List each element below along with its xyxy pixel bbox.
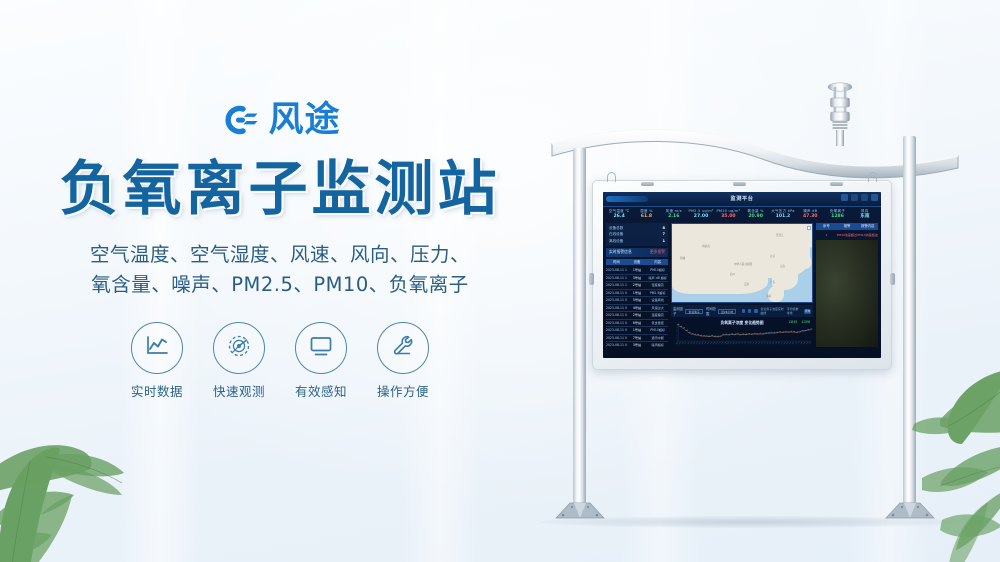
ground-shadow [540,516,960,528]
metric-value: 61.8 [633,214,659,221]
display-housing: 监测平台 空气温度 ℃ 26.4 湿度 % 61.8 风 [592,180,892,370]
mount-bolt [733,182,746,186]
metric-card: 大气压力 kPa 101.2 [770,209,796,221]
metric-value: 2.16 [661,214,687,221]
feature-label: 操作方便 [375,381,432,400]
stat-row: 离线设备 1 [609,238,665,244]
metric-card: 风速 m/s 2.16 [661,209,687,221]
column-header: 报警 [837,223,858,230]
mount-bolt [641,182,654,186]
support-post-right [903,136,916,503]
feature-easy-operation[interactable]: 操作方便 [375,322,432,400]
table-cell: 2023-08-11 09:40 [606,297,627,303]
table-row[interactable]: 2023-08-11 09:052号站温度偏高 [606,312,668,319]
metric-card: PM10 ug/m³ 35.00 [715,209,741,221]
support-post-left [573,148,586,503]
alarm-type: PM10浓度超过阈值 [837,232,858,238]
table-cell: 2023-08-11 08:48 [606,320,627,326]
table-row[interactable]: 2023-08-11 10:421号站PM10超标 [606,267,668,274]
dashboard-body: 设备总数 8 在线设备 7 离线设备 1 实时报警信息 [603,221,881,349]
alarm-table-header: 实时报警信息 更多报警 [606,248,668,257]
metric-card: 空气温度 ℃ 26.4 [606,209,632,221]
svg-text:23:30: 23:30 [808,342,812,345]
table-cell: 5号站 [627,297,648,303]
wrench-icon [390,333,416,364]
table-cell: PM2.5超标 [647,290,668,296]
trend-chart[interactable]: 负氧离子浓度 变化趋势图 1845 1286 01234567800:0000:… [671,319,813,347]
map-label: 四川 [730,272,735,276]
table-row[interactable]: 2023-08-11 10:313号站噪声 dB 超标 [606,275,668,282]
hero-panel: 风途 负氧离子监测站 空气温度、空气湿度、风速、风向、压力、 氧含量、噪声、PM… [0,96,560,400]
chart-readouts: 1845 1286 [789,320,810,324]
metric-value: 101.2 [770,214,796,221]
metric-value: 20.90 [742,214,768,221]
device-stats: 设备总数 8 在线设备 7 离线设备 1 [606,223,668,245]
map-label: 广东 [770,280,775,284]
map-label: 山东 [780,264,785,268]
table-cell: 温度偏高 [647,312,668,318]
query-button[interactable]: 查询 [804,309,811,314]
header-icons [841,194,878,201]
metric-value: 47.30 [797,214,823,221]
table-row[interactable]: 2023-08-11 08:486号站氧含量低 [606,320,668,327]
dashboard-title: 监测平台 [603,195,881,202]
map-label: 北京 [770,254,775,258]
table-row[interactable]: 2023-08-11 07:563号站噪声超标 [606,342,668,347]
monitoring-station-kiosk: 监测平台 空气温度 ℃ 26.4 湿度 % 61.8 风 [520,60,980,530]
feature-label: 实时数据 [129,381,186,400]
select-label: 监测因子 [673,306,683,316]
select-value[interactable]: 负氧离子 [685,309,703,315]
metric-card: 氧含量 % 20.90 [742,209,768,221]
table-cell: 2号站 [627,312,648,318]
legend-label-1: 负氧离子浓度实时曲线 [761,307,784,315]
metric-value: 1286 [824,214,850,221]
table-cell: 4号站 [627,305,648,311]
column-header: 序号 [816,223,837,230]
feature-icon-circle [295,322,347,374]
feature-list: 实时数据 快速观测 [0,322,560,400]
table-cell: 噪声 dB 超标 [647,275,668,281]
table-cell: 2023-08-11 08:31 [606,327,627,333]
export-icon[interactable] [748,309,751,313]
metric-value: 26.4 [606,214,632,221]
subtitle-line-2: 氧含量、噪声、PM2.5、PM10、负氧离子 [0,270,560,300]
metric-card: 湿度 % 61.8 [633,209,659,221]
svg-text:7: 7 [677,327,678,329]
factor-select[interactable]: 监测因子 负氧离子 [673,306,703,316]
svg-text:3: 3 [677,335,678,337]
max-value: 1845 [789,320,798,324]
column-header: 内容 [647,259,668,266]
table-row[interactable]: 2023-08-11 09:224号站风速过大 [606,305,668,312]
chart-controls: 监测因子 负氧离子 时间范围 近24小时 负氧离子浓度实时曲线 平均值参考线 [671,305,813,317]
mount-bolt [830,182,843,186]
select-label: 时间范围 [706,306,716,316]
table-cell: 2023-08-11 09:22 [606,305,627,311]
table-cell: 风速过大 [647,305,668,311]
svg-text:2: 2 [677,337,678,339]
feature-icon-circle [213,322,265,374]
china-map[interactable]: 内蒙古 黑龙江 新疆 北京 山东 四川 中华人民共和国 广东 云南 海南 [671,223,813,303]
camera-feed[interactable] [816,240,878,347]
hanger-ring-right [868,172,877,182]
more-alarms-link[interactable]: 更多报警 [650,249,665,255]
left-column: 设备总数 8 在线设备 7 离线设备 1 实时报警信息 [606,223,668,347]
metric-card: PM2.5 ug/m³ 27.00 [688,209,714,221]
table-cell: 2023-08-11 10:42 [606,267,627,273]
table-cell: 噪声超标 [647,342,668,347]
table-cell: 6号站 [627,320,648,326]
table-cell: 2023-08-11 10:31 [606,275,627,281]
temp-icon[interactable] [861,194,868,201]
alarm-content: PM10浓度超过阈值需及时处理 [857,232,878,238]
alarm-table-body[interactable]: 2023-08-11 10:421号站PM10超标2023-08-11 10:3… [606,267,668,347]
table-cell: 通讯中断 [647,335,668,341]
grid-toggle-icon[interactable] [742,309,745,313]
table-row[interactable]: 2023-08-11 08:147号站通讯中断 [606,335,668,342]
svg-text:4: 4 [677,333,678,335]
center-column: 内蒙古 黑龙江 新疆 北京 山东 四川 中华人民共和国 广东 云南 海南 [671,223,813,347]
brand-logo: 风途 [0,96,560,144]
wind-icon[interactable] [851,194,858,201]
table-row[interactable]: 2023-08-11 10:182号站湿度偏高 [606,282,668,289]
stat-label: 离线设备 [609,238,623,244]
table-cell: 2023-08-11 09:57 [606,290,627,296]
weather-icon[interactable] [841,194,848,201]
hanger-ring-left [607,172,616,182]
alarm-table-title: 实时报警信息 [609,249,632,255]
table-cell: 2023-08-11 07:56 [606,342,627,347]
feature-icon-circle [131,322,183,374]
table-cell: 3号站 [627,275,648,281]
brand-name: 风途 [268,103,340,138]
current-value: 1286 [801,320,810,324]
metric-row: 空气温度 ℃ 26.4 湿度 % 61.8 风速 m/s 2.16 PM2.5 … [603,207,881,221]
table-row[interactable]: 2023-08-11 09:405号站设备离线 [606,297,668,304]
select-value[interactable]: 近24小时 [718,309,736,315]
svg-text:5: 5 [677,331,678,333]
column-header: 设备 [627,259,648,266]
metric-value: 35.00 [715,214,741,221]
table-cell: 2023-08-11 09:05 [606,312,627,318]
map-label: 内蒙古 [702,244,710,248]
page-title: 负氧离子监测站 [0,158,560,220]
table-cell: PM10超标 [647,327,668,333]
alarm-table-columns: 时间 设备 内容 [606,259,668,266]
right-column: 序号 报警 报警内容 1 PM10浓度超过阈值 PM10浓度超过阈值需及时处理 [816,223,878,347]
alarm-panel-header: 序号 报警 报警内容 [816,223,878,230]
table-row[interactable]: 2023-08-11 08:311号站PM10超标 [606,327,668,334]
map-label: 黑龙江 [776,233,784,237]
table-cell: 设备离线 [647,297,668,303]
alarm-index: 1 [816,232,837,238]
feature-label: 有效感知 [293,381,350,400]
metric-value: 东南 [852,214,878,221]
table-row[interactable]: 2023-08-11 09:571号站PM2.5超标 [606,290,668,297]
metric-value: 27.00 [688,214,714,221]
legend-label-2: 平均值参考线 [787,307,801,315]
map-label: 云南 [744,282,749,286]
map-label: 海南 [766,294,771,298]
table-cell: 2023-08-11 10:18 [606,282,627,288]
map-label-country: 中华人民共和国 [734,262,752,266]
legend-marker-icon [754,309,757,313]
side-bolt-right [890,273,895,285]
monitor-icon [308,334,334,363]
feature-label: 快速观测 [211,381,268,400]
stat-value: 1 [662,238,665,244]
table-cell: 3号站 [627,342,648,347]
radar-icon [226,333,252,364]
user-icon[interactable] [871,194,878,201]
table-cell: 1号站 [627,327,648,333]
subtitle-line-1: 空气温度、空气湿度、风速、风向、压力、 [0,240,560,270]
feature-effective-sensing[interactable]: 有效感知 [293,322,350,400]
line-chart-icon [144,334,170,363]
time-range-select[interactable]: 时间范围 近24小时 [706,306,736,316]
table-cell: 7号站 [627,335,648,341]
alarm-panel-row[interactable]: 1 PM10浓度超过阈值 PM10浓度超过阈值需及时处理 [816,232,878,238]
column-header: 报警内容 [857,223,878,230]
feature-icon-circle [377,322,429,374]
wind-cloud-logo-icon [219,100,261,140]
metric-card: 噪声 dB 47.30 [797,209,823,221]
dashboard-header: 监测平台 [603,192,881,207]
table-cell: 湿度偏高 [647,282,668,288]
column-header: 时间 [606,259,627,266]
side-bolt-left [589,273,594,285]
table-cell: 2号站 [627,282,648,288]
metric-card: 风向 东南 [852,209,878,221]
feature-fast-observation[interactable]: 快速观测 [211,322,268,400]
table-cell: 氧含量低 [647,320,668,326]
hero-subtitle: 空气温度、空气湿度、风速、风向、压力、 氧含量、噪声、PM2.5、PM10、负氧… [0,240,560,300]
table-cell: PM10超标 [647,267,668,273]
dashboard-screen[interactable]: 监测平台 空气温度 ℃ 26.4 湿度 % 61.8 风 [603,192,881,358]
metric-card: 负氧离子 1286 [824,209,850,221]
table-cell: 2023-08-11 08:14 [606,335,627,341]
feature-realtime-data[interactable]: 实时数据 [129,322,186,400]
table-cell: 1号站 [627,290,648,296]
zoom-control-icon[interactable] [807,226,811,230]
map-label: 新疆 [680,256,685,260]
table-cell: 1号站 [627,267,648,273]
svg-text:6: 6 [677,329,678,331]
svg-text:1: 1 [677,339,678,341]
